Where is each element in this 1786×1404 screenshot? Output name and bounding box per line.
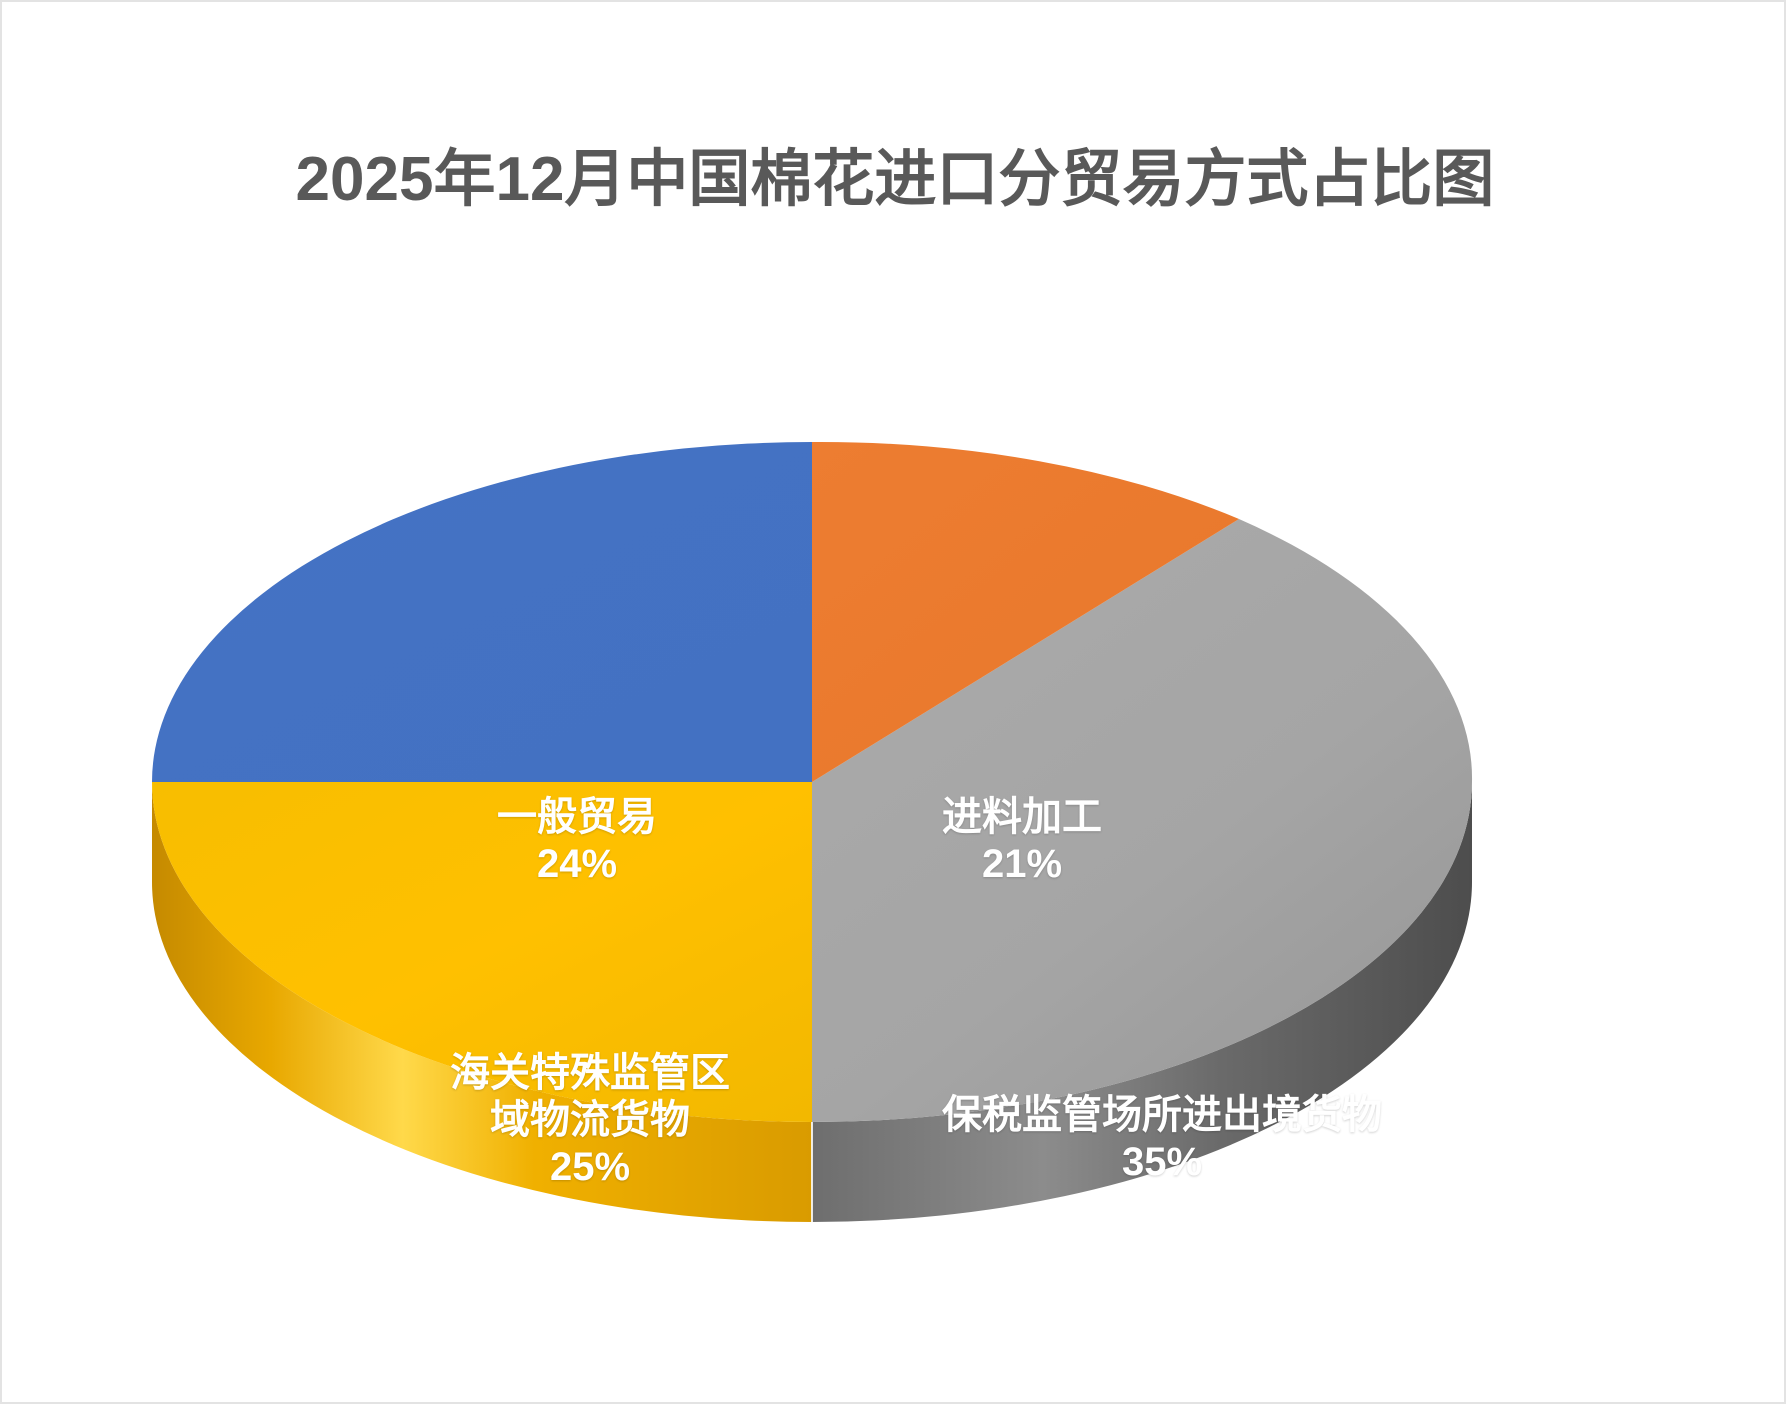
slice-top-general-trade [152, 442, 812, 782]
chart-page: 2025年12月中国棉花进口分贸易方式占比图 [0, 0, 1786, 1404]
page-title: 2025年12月中国棉花进口分贸易方式占比图 [2, 128, 1786, 218]
pie-chart-svg [112, 332, 1512, 1252]
slice-top-customs-zone [152, 782, 812, 1122]
pie-chart: 一般贸易 24% 进料加工 21% 保税监管场所进出境货物 35% 海关特殊监管… [112, 332, 1512, 1252]
